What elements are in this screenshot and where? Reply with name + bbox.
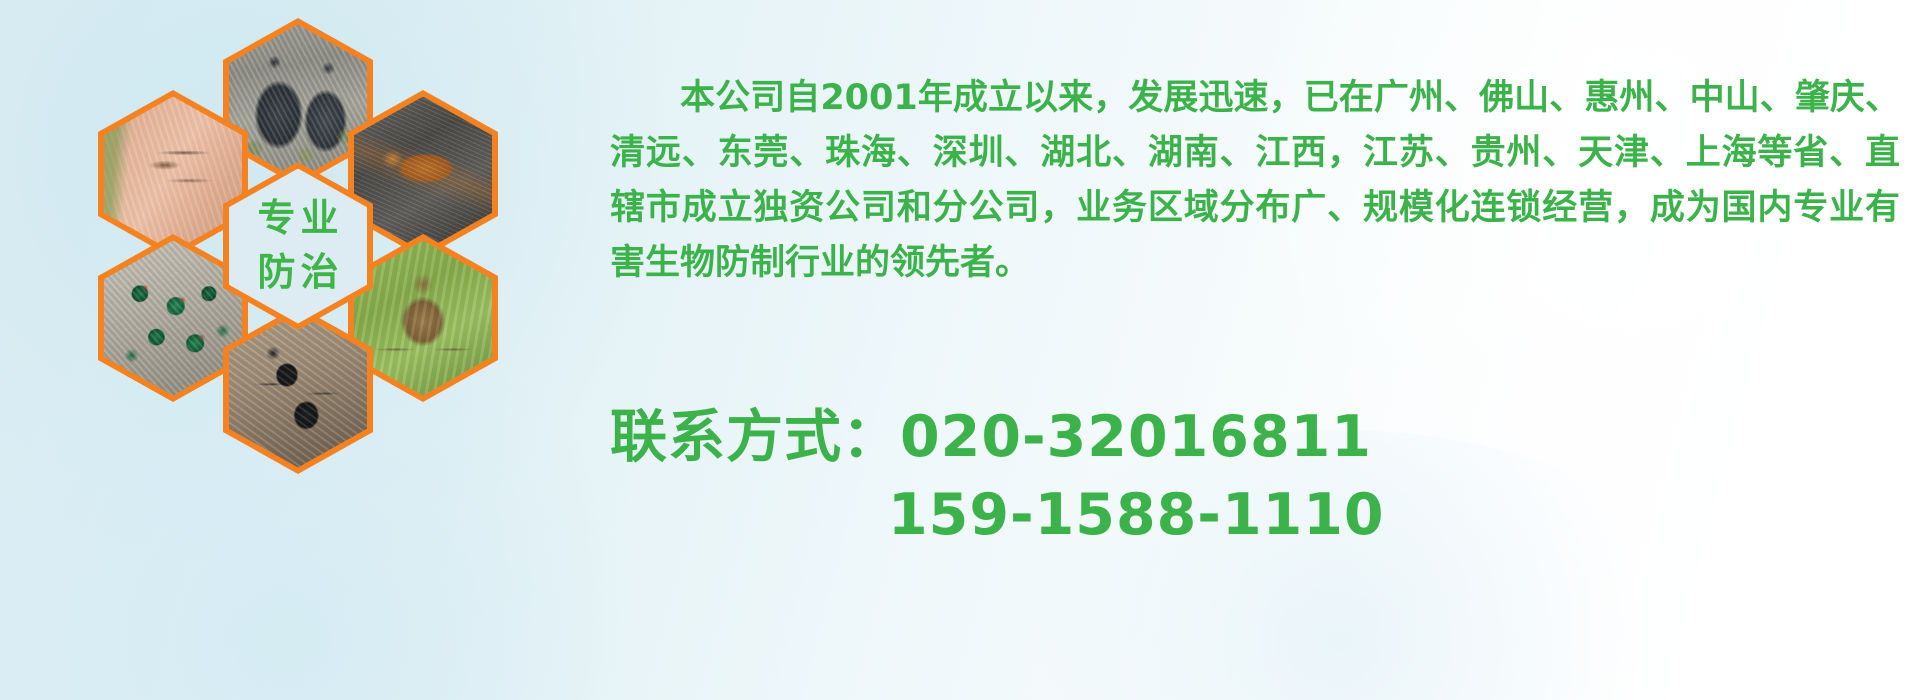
flies-icon bbox=[104, 241, 242, 396]
slogan-line-1: 专业 bbox=[252, 192, 343, 246]
hexagon-logo-cluster: 专业 防治 bbox=[80, 0, 600, 560]
company-intro-paragraph: 本公司自2001年成立以来，发展迅速，已在广州、佛山、惠州、中山、肇庆、清远、东… bbox=[610, 71, 1900, 291]
promo-banner: 专业 防治 本公司自2001年成立以来，发展迅速，已在广州、佛山、惠州、中山、肇… bbox=[0, 0, 1920, 700]
slogan-line-2: 防治 bbox=[252, 246, 343, 300]
cockroach-icon bbox=[354, 97, 492, 252]
contact-phone-primary[interactable]: 联系方式：020-32016811 bbox=[610, 398, 1910, 476]
contact-block: 联系方式：020-32016811 159-1588-1110 bbox=[610, 398, 1910, 554]
contact-phone-secondary[interactable]: 159-1588-1110 bbox=[610, 476, 1910, 554]
rats-icon bbox=[229, 25, 367, 180]
stinkbug-icon bbox=[354, 241, 492, 396]
ant-icon bbox=[229, 313, 367, 468]
intro-copy-block: 本公司自2001年成立以来，发展迅速，已在广州、佛山、惠州、中山、肇庆、清远、东… bbox=[610, 36, 1910, 326]
mosquito-icon bbox=[104, 97, 242, 252]
